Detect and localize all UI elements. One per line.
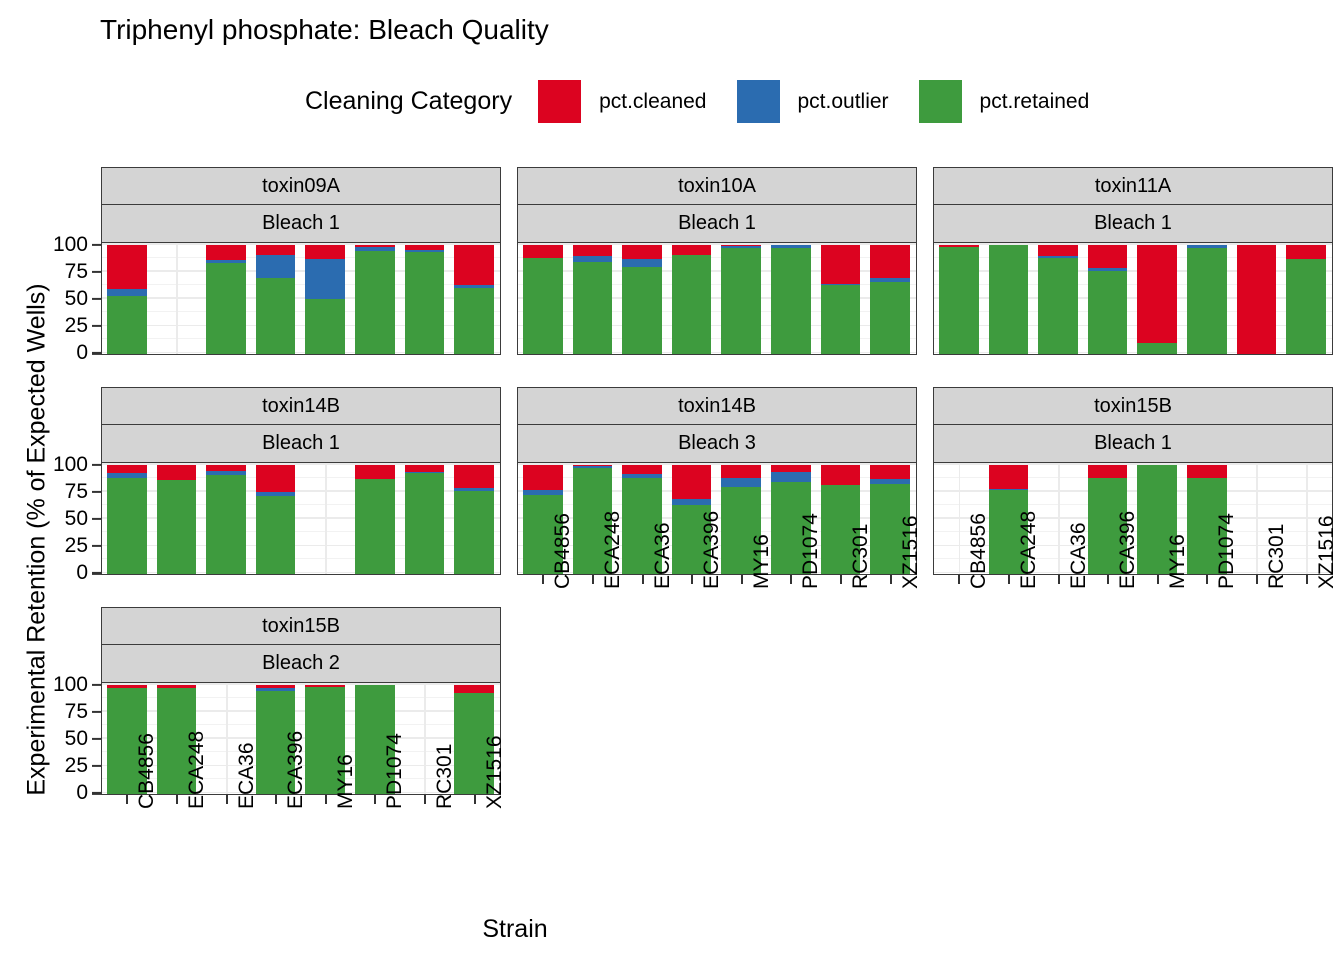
stacked-bar[interactable] (821, 245, 861, 354)
bar-segment-pct-outlier (305, 259, 345, 298)
x-tick-mark (840, 575, 842, 584)
bar-segment-pct-cleaned (454, 245, 494, 285)
bar-segment-pct-retained (1286, 259, 1326, 354)
legend-item-pct-cleaned[interactable]: pct.cleaned (538, 80, 706, 123)
bar-segment-pct-retained (870, 282, 910, 354)
stacked-bar[interactable] (1088, 245, 1128, 354)
x-tick-mark (1107, 575, 1109, 584)
bar-segment-pct-outlier (622, 259, 662, 267)
stacked-bar[interactable] (454, 465, 494, 574)
facet-strip-toxin: toxin15B (101, 607, 501, 645)
bar-segment-pct-cleaned (107, 245, 147, 289)
gridline-major-x (424, 683, 426, 794)
bar-segment-pct-retained (405, 473, 445, 574)
bar-segment-pct-retained (622, 267, 662, 354)
x-tick-label: ECA36 (235, 742, 259, 809)
stacked-bar[interactable] (256, 465, 296, 574)
stacked-bar[interactable] (1137, 245, 1177, 354)
x-tick-label: CB4856 (135, 733, 159, 809)
facet-strip-bleach: Bleach 1 (101, 205, 501, 243)
y-tick-mark (92, 572, 101, 574)
bar-segment-pct-cleaned (870, 245, 910, 278)
stacked-bar[interactable] (1237, 245, 1277, 354)
y-tick-label: 75 (30, 480, 88, 504)
bar-segment-pct-cleaned (622, 465, 662, 474)
stacked-bar[interactable] (206, 465, 246, 574)
x-tick-mark (642, 575, 644, 584)
bar-segment-pct-retained (1187, 248, 1227, 354)
stacked-bar[interactable] (107, 465, 147, 574)
bar-segment-pct-cleaned (454, 465, 494, 488)
bar-segment-pct-cleaned (672, 245, 712, 255)
gridline-major-x (1306, 463, 1308, 574)
stacked-bar[interactable] (989, 245, 1029, 354)
x-tick-mark (890, 575, 892, 584)
x-tick-mark (176, 795, 178, 804)
x-tick-mark (1206, 575, 1208, 584)
facet-strip-toxin: toxin11A (933, 167, 1333, 205)
y-tick-mark (92, 792, 101, 794)
x-tick-label: ECA36 (651, 522, 675, 589)
stacked-bar[interactable] (573, 245, 613, 354)
y-tick-mark (92, 352, 101, 354)
stacked-bar[interactable] (206, 245, 246, 354)
y-tick-label: 0 (30, 561, 88, 585)
x-tick-mark (691, 575, 693, 584)
plot-area (101, 243, 501, 355)
bar-segment-pct-cleaned (1088, 465, 1128, 478)
bar-segment-pct-retained (206, 475, 246, 574)
bar-segment-pct-cleaned (355, 465, 395, 479)
bar-segment-pct-retained (256, 496, 296, 574)
bar-segment-pct-cleaned (573, 245, 613, 256)
stacked-bar[interactable] (939, 245, 979, 354)
legend-label-pct-outlier: pct.outlier (798, 90, 889, 114)
legend-title: Cleaning Category (305, 87, 512, 116)
bar-segment-pct-retained (454, 288, 494, 354)
bar-segment-pct-retained (355, 479, 395, 574)
facet-panel: toxin10ABleach 1 (517, 167, 917, 355)
stacked-bar[interactable] (771, 245, 811, 354)
facet-strip-toxin: toxin10A (517, 167, 917, 205)
x-tick-label: MY16 (334, 754, 358, 809)
facet-strip-bleach: Bleach 1 (933, 425, 1333, 463)
gridline-major-x (1256, 463, 1258, 574)
stacked-bar[interactable] (405, 465, 445, 574)
y-tick-mark (92, 325, 101, 327)
stacked-bar[interactable] (157, 465, 197, 574)
bar-segment-pct-retained (523, 258, 563, 354)
y-tick-mark (92, 518, 101, 520)
x-tick-label: ECA396 (700, 511, 724, 589)
bar-segment-pct-cleaned (454, 685, 494, 693)
bar-segment-pct-retained (405, 252, 445, 354)
bar-segment-pct-retained (107, 296, 147, 354)
x-tick-label: RC301 (849, 524, 873, 589)
bar-segment-pct-outlier (107, 289, 147, 297)
bar-segment-pct-retained (206, 263, 246, 354)
plot-area (517, 243, 917, 355)
bar-segment-pct-cleaned (622, 245, 662, 259)
facet-strip-bleach: Bleach 1 (933, 205, 1333, 243)
x-tick-mark (790, 575, 792, 584)
stacked-bar[interactable] (355, 245, 395, 354)
y-tick-mark (92, 271, 101, 273)
legend-label-pct-cleaned: pct.cleaned (599, 90, 706, 114)
y-tick-mark (92, 738, 101, 740)
x-tick-mark (741, 575, 743, 584)
plot-area (933, 243, 1333, 355)
y-tick-label: 100 (30, 233, 88, 257)
bar-segment-pct-retained (1088, 271, 1128, 354)
bar-segment-pct-cleaned (989, 465, 1029, 489)
x-tick-label: ECA396 (1116, 511, 1140, 589)
y-tick-mark (92, 684, 101, 686)
stacked-bar[interactable] (454, 245, 494, 354)
facet-strip-bleach: Bleach 1 (101, 425, 501, 463)
y-tick-label: 50 (30, 727, 88, 751)
x-tick-mark (325, 795, 327, 804)
facet-strip-toxin: toxin14B (101, 387, 501, 425)
stacked-bar[interactable] (355, 465, 395, 574)
stacked-bar[interactable] (107, 245, 147, 354)
bar-segment-pct-cleaned (206, 245, 246, 260)
y-tick-mark (92, 244, 101, 246)
gridline-major-x (325, 463, 327, 574)
y-tick-label: 100 (30, 453, 88, 477)
stacked-bar[interactable] (256, 245, 296, 354)
x-axis-title: Strain (0, 915, 1030, 944)
x-tick-label: PD1074 (799, 513, 823, 589)
bar-segment-pct-retained (672, 255, 712, 354)
facet-strip-toxin: toxin09A (101, 167, 501, 205)
bar-segment-pct-cleaned (1237, 245, 1277, 354)
bar-segment-pct-retained (454, 491, 494, 574)
gridline-major-x (959, 463, 961, 574)
bar-segment-pct-retained (1038, 258, 1078, 354)
x-tick-label: RC301 (433, 744, 457, 809)
facet-strip-bleach: Bleach 2 (101, 645, 501, 683)
x-tick-mark (1008, 575, 1010, 584)
stacked-bar[interactable] (405, 245, 445, 354)
plot-area (101, 463, 501, 575)
x-tick-mark (226, 795, 228, 804)
x-tick-label: ECA248 (185, 731, 209, 809)
bar-segment-pct-cleaned (1286, 245, 1326, 259)
facet-panel: toxin11ABleach 1 (933, 167, 1333, 355)
x-tick-label: ECA248 (601, 511, 625, 589)
bar-segment-pct-cleaned (821, 245, 861, 284)
y-tick-label: 25 (30, 754, 88, 778)
x-tick-mark (592, 575, 594, 584)
bar-segment-pct-cleaned (1088, 245, 1128, 268)
gridline-major-x (226, 683, 228, 794)
bar-segment-pct-cleaned (523, 245, 563, 258)
bar-segment-pct-cleaned (256, 465, 296, 492)
stacked-bar[interactable] (721, 245, 761, 354)
x-tick-mark (1256, 575, 1258, 584)
bar-segment-pct-outlier (771, 472, 811, 482)
x-tick-mark (275, 795, 277, 804)
y-tick-mark (92, 545, 101, 547)
facet-strip-toxin: toxin14B (517, 387, 917, 425)
facet-strip-toxin: toxin15B (933, 387, 1333, 425)
bar-segment-pct-retained (989, 245, 1029, 354)
y-tick-mark (92, 765, 101, 767)
bar-segment-pct-retained (157, 480, 197, 574)
legend: Cleaning Category pct.cleaned pct.outlie… (305, 80, 1119, 123)
x-tick-mark (1306, 575, 1308, 584)
x-tick-label: XZ1516 (483, 735, 507, 809)
facet-strip-bleach: Bleach 1 (517, 205, 917, 243)
x-tick-label: XZ1516 (899, 515, 923, 589)
y-tick-label: 50 (30, 287, 88, 311)
bar-segment-pct-outlier (256, 255, 296, 278)
bar-segment-pct-retained (821, 285, 861, 354)
x-tick-label: CB4856 (967, 513, 991, 589)
x-tick-mark (126, 795, 128, 804)
y-tick-label: 75 (30, 260, 88, 284)
x-tick-label: PD1074 (383, 733, 407, 809)
stacked-bar[interactable] (622, 245, 662, 354)
bar-segment-pct-retained (573, 262, 613, 354)
gridline-major-x (176, 243, 178, 354)
bar-segment-pct-retained (305, 299, 345, 354)
y-tick-mark (92, 491, 101, 493)
bar-segment-pct-cleaned (672, 465, 712, 499)
y-tick-mark (92, 711, 101, 713)
legend-label-pct-retained: pct.retained (980, 90, 1090, 114)
bar-segment-pct-cleaned (523, 465, 563, 490)
bar-segment-pct-retained (721, 248, 761, 354)
y-tick-label: 0 (30, 341, 88, 365)
legend-item-pct-retained[interactable]: pct.retained (919, 80, 1090, 123)
x-tick-mark (958, 575, 960, 584)
y-tick-label: 50 (30, 507, 88, 531)
x-tick-label: PD1074 (1215, 513, 1239, 589)
bar-segment-pct-cleaned (870, 465, 910, 479)
x-tick-mark (424, 795, 426, 804)
x-tick-mark (1058, 575, 1060, 584)
stacked-bar[interactable] (1286, 245, 1326, 354)
y-tick-label: 100 (30, 673, 88, 697)
x-tick-label: ECA248 (1017, 511, 1041, 589)
bar-segment-pct-cleaned (107, 465, 147, 473)
legend-key-pct-outlier (737, 80, 780, 123)
stacked-bar[interactable] (305, 245, 345, 354)
stacked-bar[interactable] (523, 245, 563, 354)
chart-title: Triphenyl phosphate: Bleach Quality (100, 14, 549, 46)
facet-panel: toxin14BBleach 1 (101, 387, 501, 575)
gridline-major-x (1058, 463, 1060, 574)
x-tick-mark (542, 575, 544, 584)
bar-segment-pct-cleaned (256, 245, 296, 255)
bar-segment-pct-cleaned (305, 245, 345, 259)
bar-segment-pct-cleaned (821, 465, 861, 485)
stacked-bar[interactable] (870, 245, 910, 354)
bar-segment-pct-retained (1137, 343, 1177, 354)
bar-segment-pct-cleaned (1038, 245, 1078, 256)
bar-segment-pct-cleaned (1137, 245, 1177, 343)
bar-segment-pct-retained (939, 247, 979, 354)
x-tick-label: RC301 (1265, 524, 1289, 589)
y-tick-label: 0 (30, 781, 88, 805)
stacked-bar[interactable] (1187, 245, 1227, 354)
stacked-bar[interactable] (1038, 245, 1078, 354)
stacked-bar[interactable] (672, 245, 712, 354)
bar-segment-pct-retained (771, 248, 811, 354)
bar-segment-pct-retained (107, 478, 147, 574)
facet-panel: toxin09ABleach 1 (101, 167, 501, 355)
bar-segment-pct-cleaned (157, 465, 197, 480)
bar-segment-pct-cleaned (1187, 465, 1227, 478)
legend-key-pct-retained (919, 80, 962, 123)
y-tick-label: 25 (30, 534, 88, 558)
x-tick-label: MY16 (1166, 534, 1190, 589)
x-tick-label: ECA396 (284, 731, 308, 809)
bar-segment-pct-retained (256, 278, 296, 354)
y-tick-mark (92, 298, 101, 300)
x-tick-label: MY16 (750, 534, 774, 589)
x-tick-label: CB4856 (551, 513, 575, 589)
bar-segment-pct-outlier (721, 478, 761, 487)
x-tick-mark (1157, 575, 1159, 584)
x-tick-label: ECA36 (1067, 522, 1091, 589)
legend-item-pct-outlier[interactable]: pct.outlier (737, 80, 889, 123)
x-tick-label: XZ1516 (1315, 515, 1339, 589)
y-tick-mark (92, 464, 101, 466)
bar-segment-pct-cleaned (721, 465, 761, 478)
bar-segment-pct-retained (355, 251, 395, 354)
y-tick-label: 25 (30, 314, 88, 338)
x-tick-mark (474, 795, 476, 804)
y-tick-label: 75 (30, 700, 88, 724)
facet-strip-bleach: Bleach 3 (517, 425, 917, 463)
x-tick-mark (374, 795, 376, 804)
legend-key-pct-cleaned (538, 80, 581, 123)
